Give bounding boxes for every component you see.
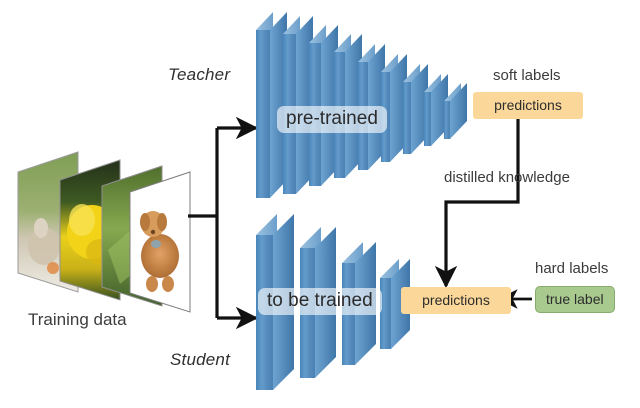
diagram-canvas: Training data Teacher Student pre-traine… — [0, 0, 640, 408]
teacher-layer-2 — [283, 16, 313, 194]
student-net-label: to be trained — [258, 288, 382, 315]
training-data-card-stack — [18, 152, 190, 312]
true-label-box[interactable]: true label — [535, 286, 615, 313]
teacher-net-label: pre-trained — [277, 106, 387, 133]
input-fork-arrows — [188, 128, 256, 318]
teacher-layer-1 — [256, 12, 287, 198]
distilled-knowledge-arrow — [446, 118, 518, 286]
hard-labels-caption: hard labels — [535, 261, 608, 276]
teacher-predictions-box[interactable]: predictions — [473, 92, 583, 119]
training-card-dog — [130, 172, 190, 312]
distilled-knowledge-label: distilled knowledge — [444, 170, 570, 185]
soft-labels-caption: soft labels — [493, 68, 561, 83]
teacher-network-layers — [256, 12, 467, 198]
student-predictions-box[interactable]: predictions — [401, 287, 511, 314]
diagram-graphics — [0, 0, 640, 408]
